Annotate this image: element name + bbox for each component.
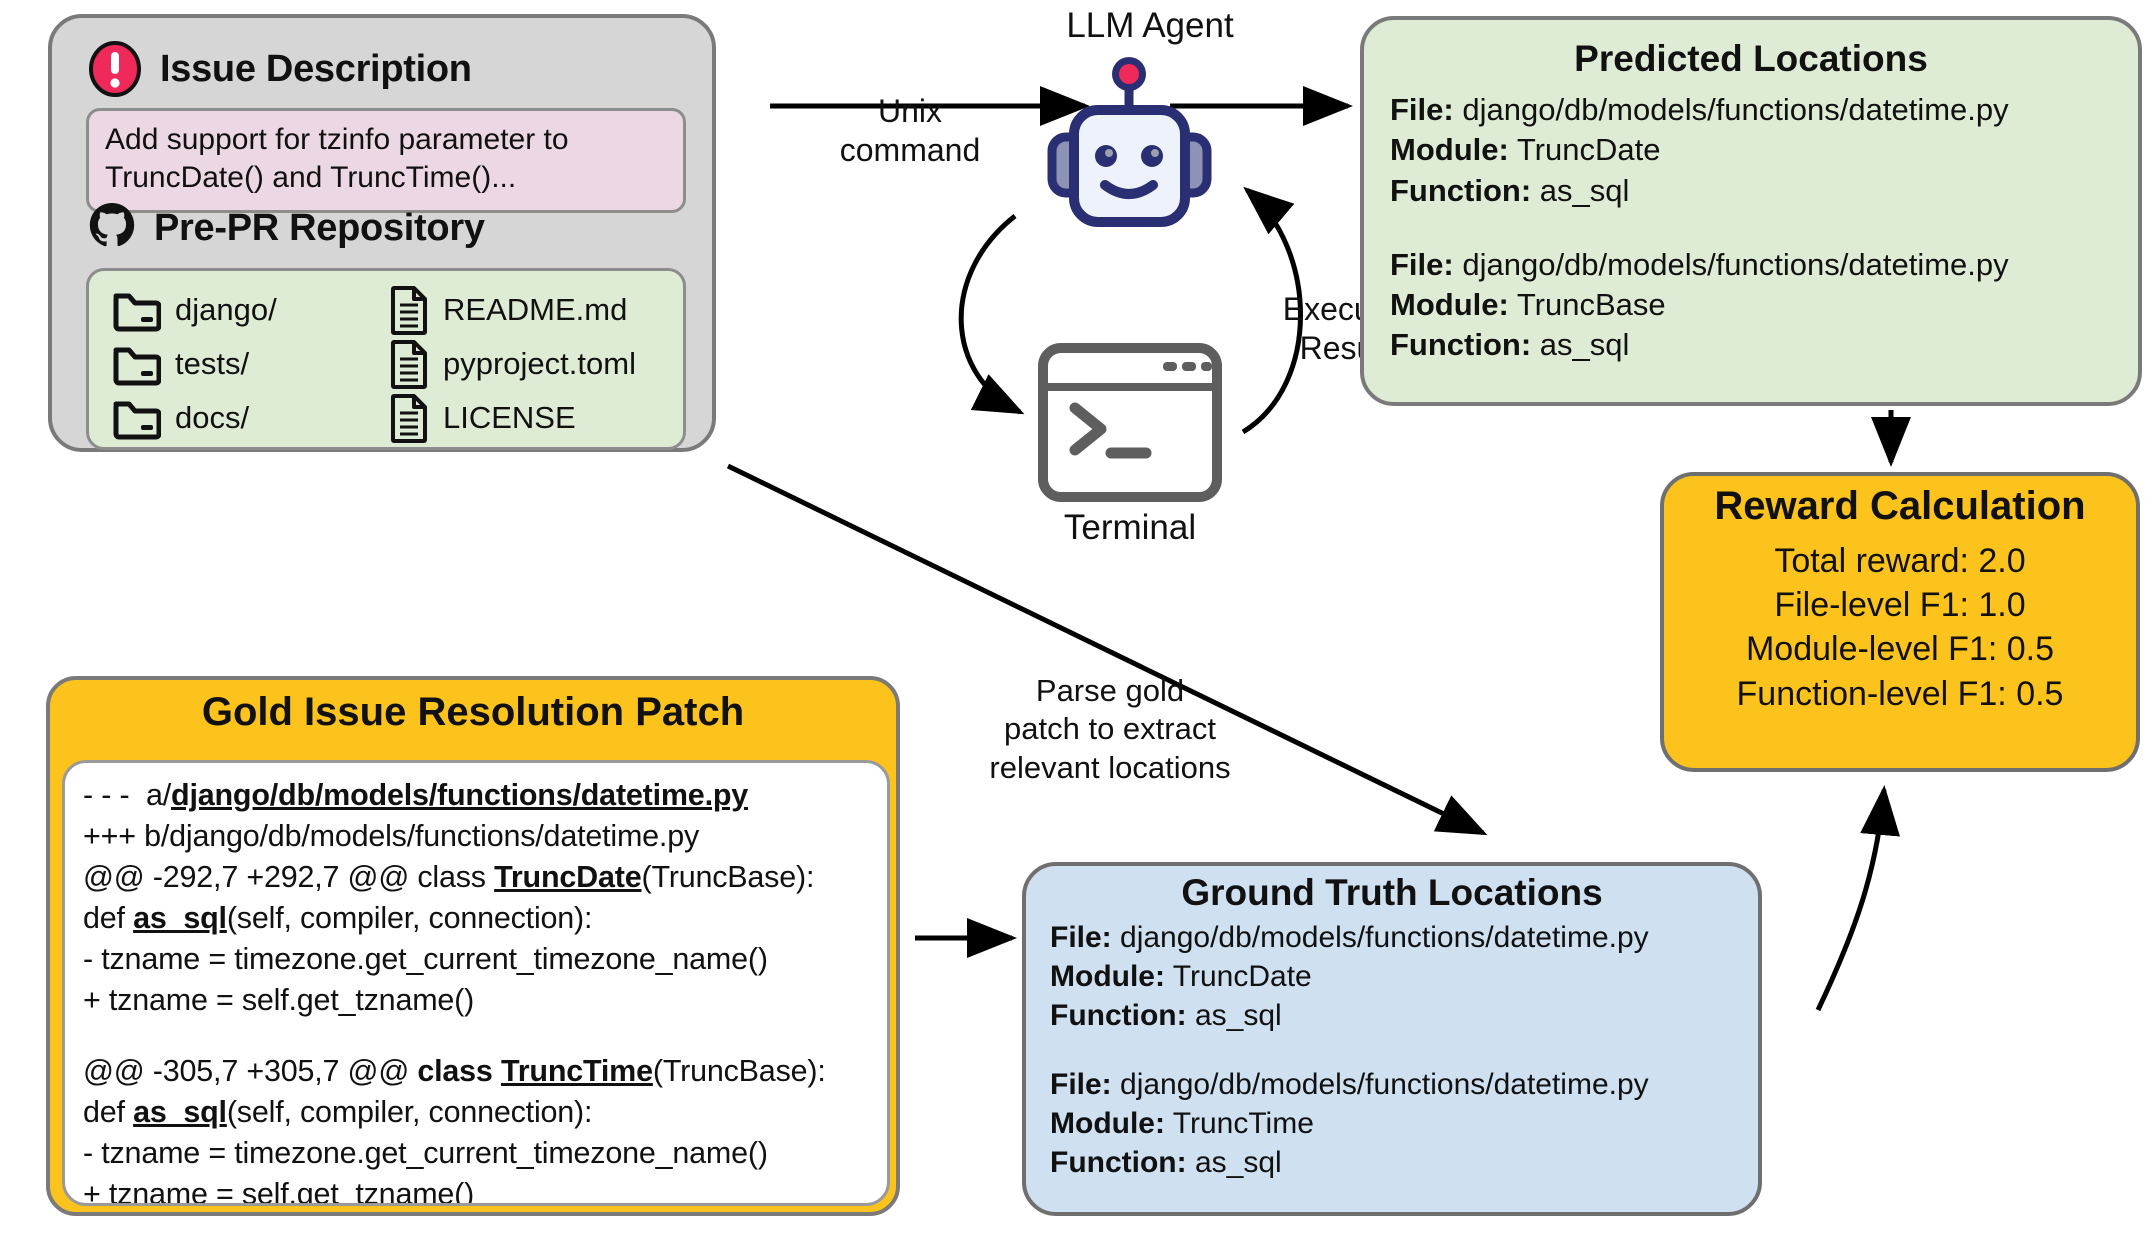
diff-line: @@ -292,7 +292,7 @@ class TruncDate(Trun… [83,857,887,898]
issue-title: Issue Description [160,48,472,91]
folder-icon [111,342,161,386]
file-icon [389,339,429,389]
diff-text: + tzname = self.get_tzname() [83,983,474,1017]
location-file-line: File: django/db/models/functions/datetim… [1050,1065,1758,1104]
ground-truth-locations-box: Ground Truth Locations File: django/db/m… [1022,862,1762,1216]
diff-text: (TruncBase): [641,860,814,894]
reward-metrics-list: Total reward: 2.0File-level F1: 1.0Modul… [1664,539,2136,716]
diff-text: (self, compiler, connection): [227,901,592,935]
module-value: TruncTime [1165,1107,1314,1140]
diff-line: - tzname = timezone.get_current_timezone… [83,939,887,980]
reward-metric-line: Function-level F1: 0.5 [1664,672,2136,716]
diff-text: + tzname = self.get_tzname() [83,1177,474,1206]
location-function-line: Function: as_sql [1050,996,1758,1035]
file-column: README.mdpyproject.tomlLICENSE [389,283,636,445]
repo-title: Pre-PR Repository [154,207,485,250]
diff-highlight: django/db/models/functions/datetime.py [171,778,748,812]
location-file-label: File: [1050,1068,1112,1101]
location-file-line: File: django/db/models/functions/datetim… [1390,90,2138,130]
diff-line: - tzname = timezone.get_current_timezone… [83,1133,887,1174]
arrow-ground-truth-to-reward [1818,790,1884,1010]
file-row[interactable]: README.md [389,283,636,337]
file-icon [389,285,429,335]
location-file-line: File: django/db/models/functions/datetim… [1390,245,2138,285]
reward-metric-line: Module-level F1: 0.5 [1664,627,2136,671]
diff-line: def as_sql(self, compiler, connection): [83,898,887,939]
location-function-label: Function: [1050,1146,1187,1179]
predicted-locations-list: File: django/db/models/functions/datetim… [1364,90,2138,366]
location-file-line: File: django/db/models/functions/datetim… [1050,918,1758,957]
location-module-line: Module: TruncBase [1390,285,2138,325]
arrow-agent-to-terminal [961,216,1020,412]
location-module-label: Module: [1050,960,1165,993]
location-module-line: Module: TruncTime [1050,1104,1758,1143]
folder-label: docs/ [175,400,249,436]
location-function-line: Function: as_sql [1050,1143,1758,1182]
diff-text: @@ -292,7 +292,7 @@ class [83,860,494,894]
location-module-label: Module: [1050,1107,1165,1140]
folder-icon [111,396,161,440]
diff-text: def [83,1095,133,1129]
location-gap [1050,1035,1758,1065]
file-value: django/db/models/functions/datetime.py [1454,247,2009,282]
diff-text: (TruncBase): [653,1054,826,1088]
location-module-line: Module: TruncDate [1050,957,1758,996]
terminal-label: Terminal [1010,508,1250,548]
issue-header: Issue Description [88,40,472,98]
unix-command-line1: Unix [810,92,1010,131]
reward-metric-line: Total reward: 2.0 [1664,539,2136,583]
file-row[interactable]: pyproject.toml [389,337,636,391]
diff-highlight: as_sql [133,901,227,935]
location-function-label: Function: [1390,173,1531,208]
folder-row[interactable]: docs/ [111,391,277,445]
file-label: README.md [443,292,627,328]
file-value: django/db/models/functions/datetime.py [1454,92,2009,127]
unix-command-line2: command [810,131,1010,170]
function-value: as_sql [1187,1146,1282,1179]
gold-patch-diff: - - - a/django/db/models/functions/datet… [62,760,890,1206]
diff-line: def as_sql(self, compiler, connection): [83,1092,887,1133]
diff-line: @@ -305,7 +305,7 @@ class TruncTime(Trun… [83,1051,887,1092]
parse-line1: Parse gold [965,672,1255,710]
location-function-label: Function: [1050,999,1187,1032]
file-icon [389,393,429,443]
location-module-line: Module: TruncDate [1390,130,2138,170]
llm-agent-title: LLM Agent [1000,6,1300,46]
diff-line: - - - a/django/db/models/functions/datet… [83,775,887,816]
module-value: TruncDate [1165,960,1312,993]
repo-file-list: django/tests/docs/ README.mdpyproject.to… [86,268,686,450]
gold-patch-box: Gold Issue Resolution Patch - - - a/djan… [46,676,900,1216]
unix-command-label: Unix command [810,92,1010,170]
diff-line: + tzname = self.get_tzname() [83,980,887,1021]
folder-row[interactable]: django/ [111,283,277,337]
folder-column: django/tests/docs/ [111,283,277,445]
file-label: LICENSE [443,400,576,436]
parse-line3: relevant locations [965,749,1255,787]
diff-text: - tzname = timezone.get_current_timezone… [83,1136,768,1170]
diff-highlight: TruncDate [494,860,641,894]
folder-row[interactable]: tests/ [111,337,277,391]
location-file-label: File: [1050,921,1112,954]
reward-title: Reward Calculation [1664,484,2136,529]
gold-patch-title: Gold Issue Resolution Patch [50,690,896,735]
module-value: TruncBase [1509,287,1666,322]
file-label: pyproject.toml [443,346,636,382]
folder-label: django/ [175,292,277,328]
diff-line: +++ b/django/db/models/functions/datetim… [83,816,887,857]
diff-highlight: as_sql [133,1095,227,1129]
location-module-label: Module: [1390,132,1509,167]
location-gap [1390,211,2138,245]
github-icon [86,200,138,256]
parse-line2: patch to extract [965,710,1255,748]
exclamation-circle-icon [88,40,142,98]
diff-text: def [83,901,133,935]
function-value: as_sql [1531,173,1629,208]
file-value: django/db/models/functions/datetime.py [1112,921,1649,954]
issue-description-panel: Issue Description Add support for tzinfo… [48,14,716,452]
diff-text: @@ -305,7 +305,7 @@ [83,1054,417,1088]
location-function-line: Function: as_sql [1390,171,2138,211]
file-value: django/db/models/functions/datetime.py [1112,1068,1649,1101]
predicted-locations-title: Predicted Locations [1364,38,2138,80]
reward-calculation-box: Reward Calculation Total reward: 2.0File… [1660,472,2140,772]
issue-description-text: Add support for tzinfo parameter to Trun… [86,108,686,213]
function-value: as_sql [1531,327,1629,362]
diff-text: +++ b/django/db/models/functions/datetim… [83,819,699,853]
file-row[interactable]: LICENSE [389,391,636,445]
ground-truth-title: Ground Truth Locations [1026,872,1758,914]
diff-text: (self, compiler, connection): [227,1095,592,1129]
location-module-label: Module: [1390,287,1509,322]
function-value: as_sql [1187,999,1282,1032]
parse-gold-patch-label: Parse gold patch to extract relevant loc… [965,672,1255,787]
diff-line: + tzname = self.get_tzname() [83,1174,887,1206]
predicted-locations-box: Predicted Locations File: django/db/mode… [1360,16,2142,406]
diff-highlight: TruncTime [501,1054,653,1088]
location-function-label: Function: [1390,327,1531,362]
location-file-label: File: [1390,247,1454,282]
ground-truth-locations-list: File: django/db/models/functions/datetim… [1026,918,1758,1182]
location-file-label: File: [1390,92,1454,127]
module-value: TruncDate [1509,132,1661,167]
terminal-icon [1035,340,1225,505]
diff-blank-line [83,1021,887,1051]
robot-icon [1032,52,1227,242]
diagram-canvas: Issue Description Add support for tzinfo… [0,0,2153,1237]
location-function-line: Function: as_sql [1390,325,2138,365]
folder-icon [111,288,161,332]
repo-header: Pre-PR Repository [86,200,485,256]
diff-text: - - - a/ [83,778,171,812]
diff-highlight: class [417,1054,501,1088]
diff-text: - tzname = timezone.get_current_timezone… [83,942,768,976]
folder-label: tests/ [175,346,249,382]
reward-metric-line: File-level F1: 1.0 [1664,583,2136,627]
